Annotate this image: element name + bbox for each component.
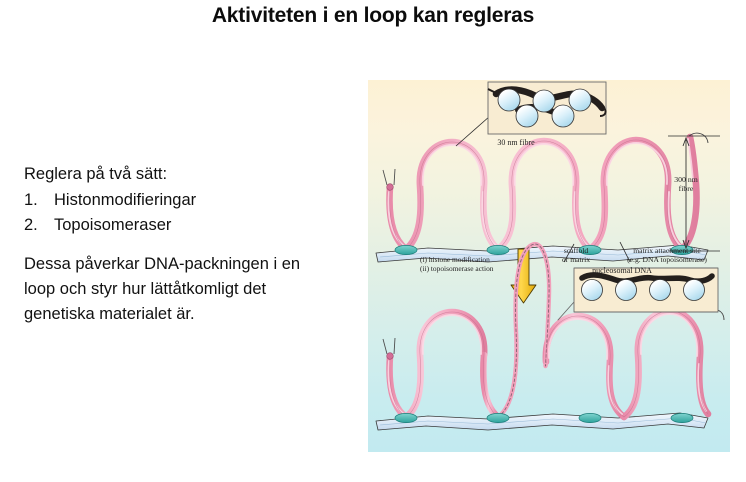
list-item-label: Histonmodifieringar <box>54 188 334 213</box>
list-item: 1. Histonmodifieringar <box>24 188 334 213</box>
label-30nm-fibre: 30 nm fibre <box>466 138 566 147</box>
label-scaffold-or-matrix: scaffold or matrix <box>546 246 606 264</box>
label-regulation-actions: (i) histone modification (ii) topoisomer… <box>420 255 493 273</box>
label-topoisomerase-action: (ii) topoisomerase action <box>420 264 493 273</box>
label-nucleosomal-dna: nucleosomal DNA <box>558 266 686 275</box>
scaffold-band-lower <box>376 413 708 430</box>
label-matrix-line1: matrix attachment site <box>633 246 700 255</box>
fibre-frayed-end-upper <box>383 169 395 190</box>
list-item-label: Topoisomeraser <box>54 213 334 238</box>
label-300nm-line2: fibre <box>679 184 694 193</box>
list-item: 2. Topoisomeraser <box>24 213 334 238</box>
label-scaffold-line1: scaffold <box>564 246 588 255</box>
label-300nm-fibre: 300 nm fibre <box>656 175 716 193</box>
chromatin-loops-upper <box>390 137 697 249</box>
list-item-number: 1. <box>24 188 54 213</box>
upper-panel-condensed-loops <box>376 82 720 262</box>
label-matrix-line2: (e.g. DNA topoisomerase) <box>627 255 707 264</box>
label-matrix-attachment-site: matrix attachment site (e.g. DNA topoiso… <box>606 246 728 264</box>
fibre-highlight-upper <box>389 139 693 246</box>
summary-paragraph: Dessa påverkar DNA-packningen i en loop … <box>24 252 324 327</box>
label-histone-modification: (i) histone modification <box>420 255 490 264</box>
label-scaffold-line2: or matrix <box>562 255 590 264</box>
regulation-list: 1. Histonmodifieringar 2. Topoisomeraser <box>24 188 334 238</box>
label-300nm-line1: 300 nm <box>674 175 698 184</box>
inset-30nm-fibre <box>488 82 606 134</box>
fibre-frayed-end-lower <box>383 338 395 359</box>
list-item-number: 2. <box>24 213 54 238</box>
regulation-lead-text: Reglera på två sätt: <box>24 162 334 187</box>
callout-nucleosomal-dna <box>558 268 718 320</box>
explanation-block: Reglera på två sätt: 1. Histonmodifierin… <box>24 162 334 238</box>
page-title: Aktiviteten i en loop kan regleras <box>0 4 746 28</box>
chromatin-loop-diagram: 30 nm fibre 300 nm fibre (i) histone mod… <box>368 80 730 452</box>
fibre-outline-upper <box>390 140 682 249</box>
